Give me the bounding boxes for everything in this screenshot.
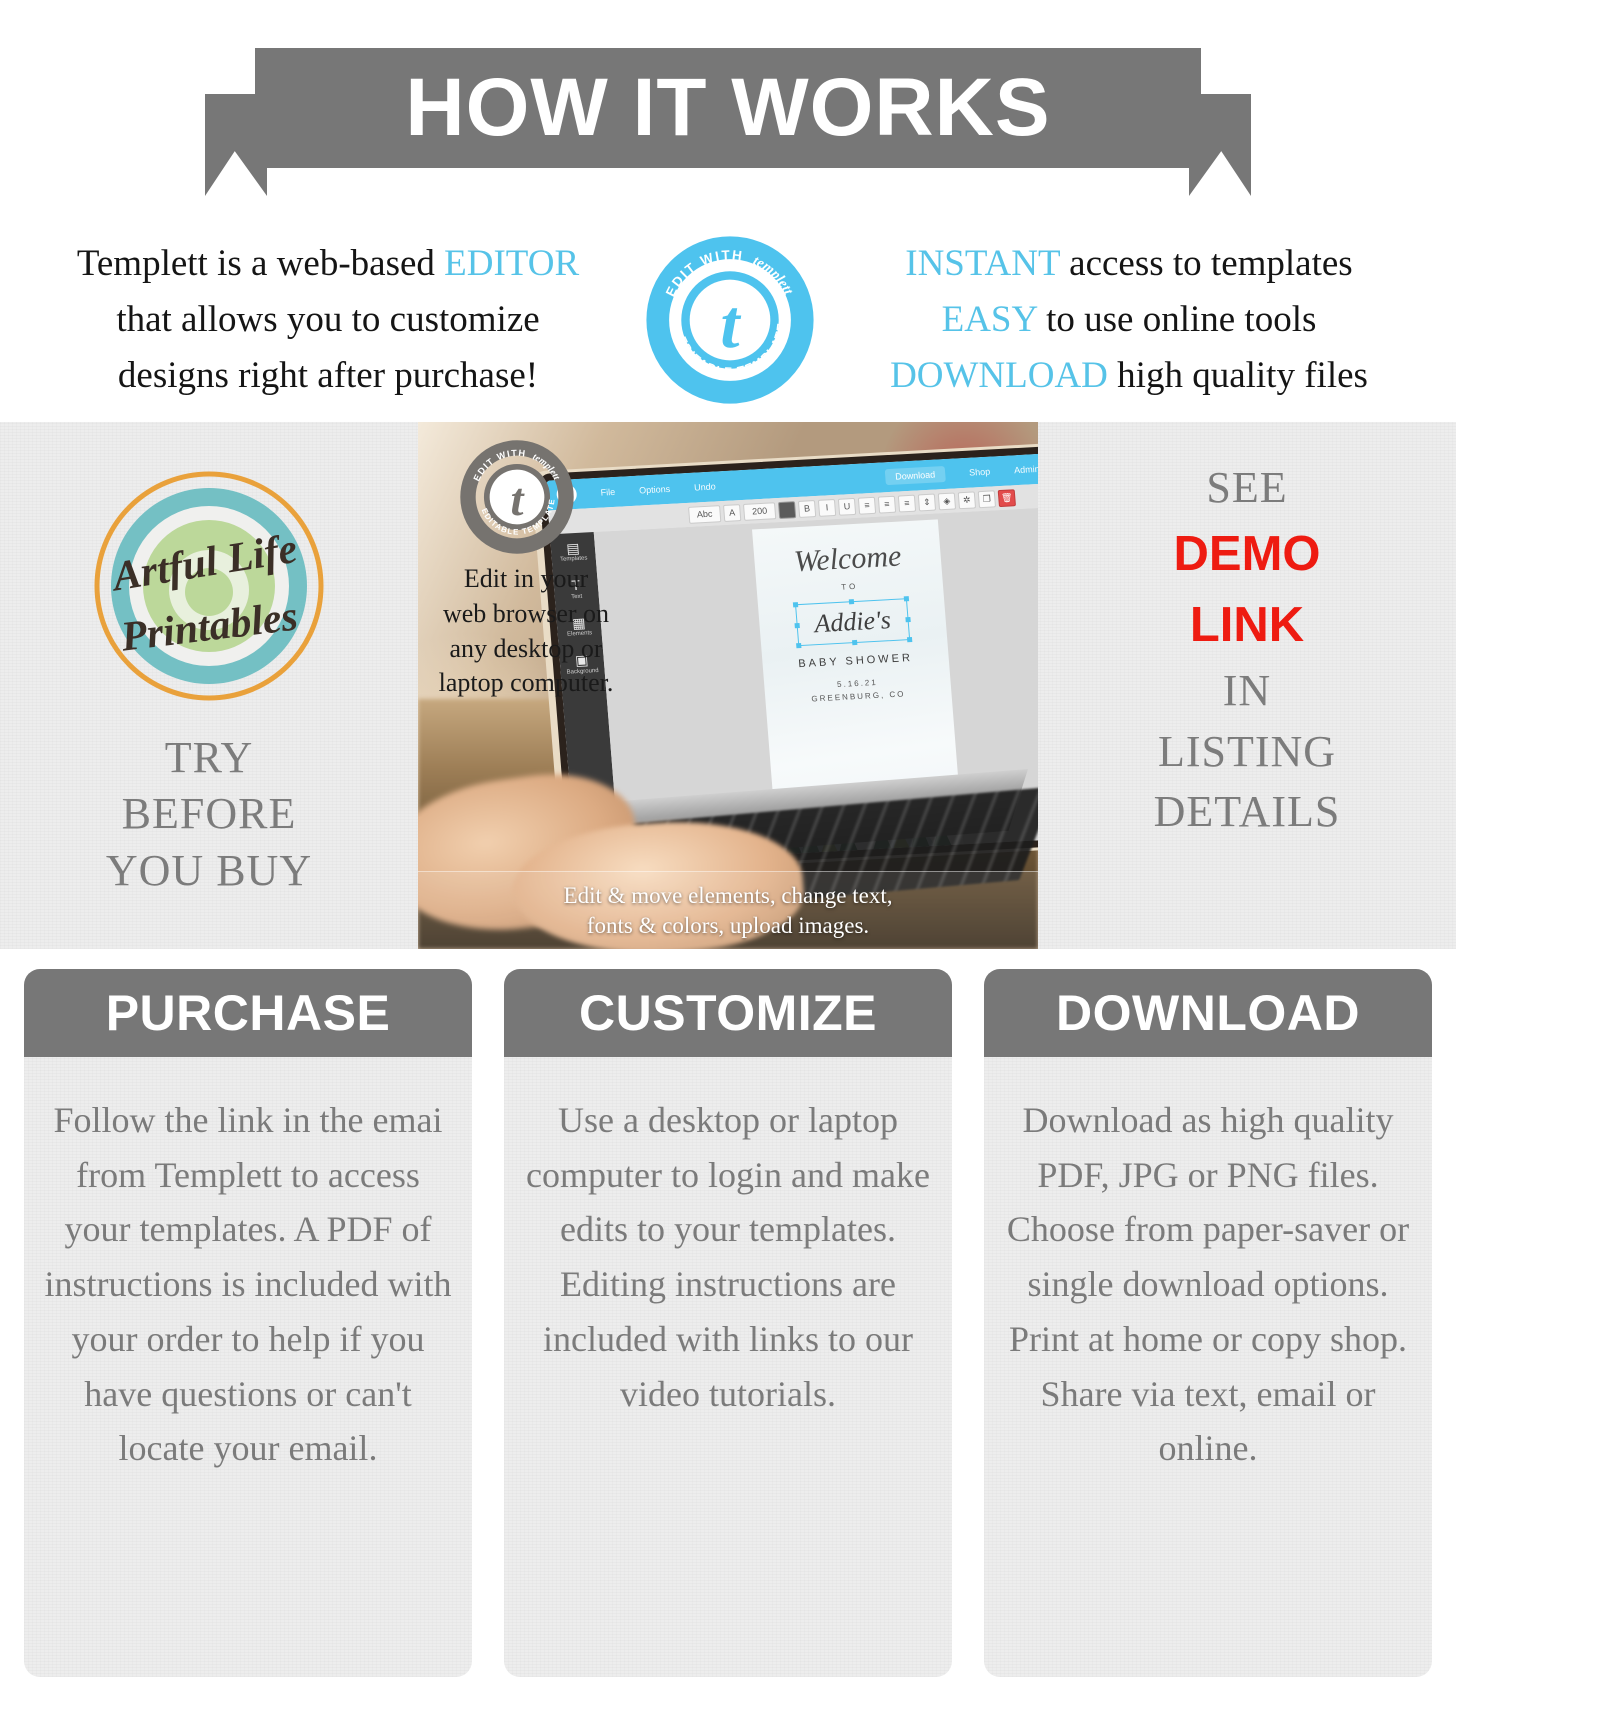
try-line-1: TRY	[106, 730, 312, 786]
invite-event-text: BABY SHOWER	[762, 650, 949, 672]
invite-name-selection-box[interactable]: Addie's	[795, 598, 910, 646]
settings-icon[interactable]: ✲	[958, 491, 976, 509]
intro-right-line3-highlight: DOWNLOAD	[890, 355, 1108, 396]
photo-caption-top-line2: web browser on	[426, 597, 626, 632]
shop-logo: Artful Life Printables	[78, 464, 340, 714]
align-right-icon[interactable]: ≡	[898, 494, 916, 512]
resize-handle-b[interactable]	[852, 640, 857, 645]
delete-icon[interactable]: 🗑	[998, 489, 1016, 507]
editor-menu-undo[interactable]: Undo	[694, 481, 716, 492]
editor-nav-shop[interactable]: Shop	[969, 467, 991, 478]
photo-caption-bottom: Edit & move elements, change text, fonts…	[418, 871, 1038, 949]
intro-left-line1-pre: Templett is a web-based	[77, 243, 444, 284]
font-family-select[interactable]: Abc	[688, 505, 721, 524]
line-spacing-icon[interactable]: ⇕	[918, 493, 936, 511]
align-center-icon[interactable]: ≡	[878, 495, 896, 513]
editor-menu-options[interactable]: Options	[639, 484, 671, 496]
demo-line-see: SEE	[1038, 458, 1456, 519]
try-before-you-buy-text: TRY BEFORE YOU BUY	[106, 730, 312, 899]
intro-left-line1: Templett is a web-based EDITOR	[18, 236, 638, 292]
editor-download-button[interactable]: Download	[885, 466, 946, 485]
intro-right-line2: EASY to use online tools	[834, 292, 1424, 348]
card-purchase-title: PURCHASE	[24, 969, 472, 1057]
editor-menu-file[interactable]: File	[600, 487, 615, 498]
templett-badge-icon: EDIT WITH templett EDITABLE TEMPLATE t	[646, 236, 814, 404]
demo-line-link: LINK	[1038, 590, 1456, 661]
card-purchase: PURCHASE Follow the link in the emai fro…	[24, 969, 472, 1723]
layers-icon[interactable]: ◈	[938, 492, 956, 510]
banner-section: HOW IT WORKS	[0, 0, 1456, 218]
card-download-title: DOWNLOAD	[984, 969, 1432, 1057]
card-customize-title: CUSTOMIZE	[504, 969, 952, 1057]
photo-caption-top-line3: any desktop or	[426, 632, 626, 667]
font-size-input[interactable]: 200	[743, 502, 776, 521]
page-title: HOW IT WORKS	[255, 48, 1201, 168]
photo-caption-bottom-line2: fonts & colors, upload images.	[418, 911, 1038, 941]
intro-right-line2-post: to use online tools	[1037, 299, 1317, 340]
try-line-3: YOU BUY	[106, 843, 312, 899]
photo-caption-top-line1: Edit in your	[426, 562, 626, 597]
demo-link-column: SEE DEMO LINK IN LISTING DETAILS	[1038, 422, 1456, 949]
resize-handle-l[interactable]	[795, 623, 800, 628]
italic-button[interactable]: I	[818, 498, 836, 516]
intro-section: Templett is a web-based EDITOR that allo…	[0, 218, 1456, 422]
photo-caption-bottom-line1: Edit & move elements, change text,	[418, 881, 1038, 911]
card-download: DOWNLOAD Download as high quality PDF, J…	[984, 969, 1432, 1723]
demo-line-details: DETAILS	[1038, 782, 1456, 843]
intro-right-line1-post: access to templates	[1060, 243, 1353, 284]
duplicate-icon[interactable]: ❐	[978, 490, 996, 508]
laptop-photo: t File Options Undo Download Shop Admin …	[418, 422, 1038, 949]
invite-to-text: TO	[757, 577, 943, 596]
intro-right-line2-highlight: EASY	[942, 299, 1037, 340]
steps-cards-section: PURCHASE Follow the link in the emai fro…	[0, 949, 1456, 1723]
underline-button[interactable]: U	[838, 497, 856, 515]
shop-branding-column: Artful Life Printables TRY BEFORE YOU BU…	[0, 422, 418, 949]
card-download-body: Download as high quality PDF, JPG or PNG…	[984, 1057, 1432, 1677]
intro-right-line3-post: high quality files	[1108, 355, 1368, 396]
banner-ribbon: HOW IT WORKS	[255, 48, 1201, 168]
demo-line-demo: DEMO	[1038, 519, 1456, 590]
color-swatch[interactable]	[778, 501, 796, 519]
intro-right-line3: DOWNLOAD high quality files	[834, 348, 1424, 404]
font-color-icon[interactable]: A	[723, 504, 741, 522]
intro-right-line1: INSTANT access to templates	[834, 236, 1424, 292]
middle-section: Artful Life Printables TRY BEFORE YOU BU…	[0, 422, 1456, 949]
editor-nav-admin[interactable]: Admin	[1014, 464, 1038, 475]
intro-left-text: Templett is a web-based EDITOR that allo…	[18, 236, 638, 405]
try-line-2: BEFORE	[106, 786, 312, 842]
resize-handle-br[interactable]	[907, 637, 912, 642]
resize-handle-tr[interactable]	[904, 596, 909, 601]
card-customize: CUSTOMIZE Use a desktop or laptop comput…	[504, 969, 952, 1723]
svg-text:t: t	[511, 474, 526, 526]
resize-handle-r[interactable]	[905, 617, 910, 622]
photo-caption-top-line4: laptop computer.	[426, 666, 626, 701]
demo-line-in: IN	[1038, 661, 1456, 722]
resize-handle-t[interactable]	[849, 599, 854, 604]
intro-left-line3: designs right after purchase!	[18, 348, 638, 404]
align-left-icon[interactable]: ≡	[858, 496, 876, 514]
resize-handle-bl[interactable]	[796, 643, 801, 648]
card-purchase-body: Follow the link in the emai from Templet…	[24, 1057, 472, 1677]
topbar-spacer	[740, 479, 862, 486]
intro-right-line1-highlight: INSTANT	[905, 243, 1060, 284]
intro-left-line1-highlight: EDITOR	[444, 243, 579, 284]
photo-caption-top: Edit in your web browser on any desktop …	[426, 562, 626, 701]
demo-line-listing: LISTING	[1038, 722, 1456, 783]
bold-button[interactable]: B	[798, 500, 816, 518]
svg-text:t: t	[720, 286, 741, 362]
invite-welcome-text: Welcome	[753, 537, 941, 581]
card-customize-body: Use a desktop or laptop computer to logi…	[504, 1057, 952, 1677]
intro-left-line2: that allows you to customize	[18, 292, 638, 348]
invite-name-text: Addie's	[813, 605, 892, 639]
intro-right-text: INSTANT access to templates EASY to use …	[834, 236, 1424, 405]
templett-badge-gray-icon: EDIT WITH templett EDITABLE TEMPLATE t	[460, 440, 574, 554]
resize-handle-tl[interactable]	[793, 602, 798, 607]
